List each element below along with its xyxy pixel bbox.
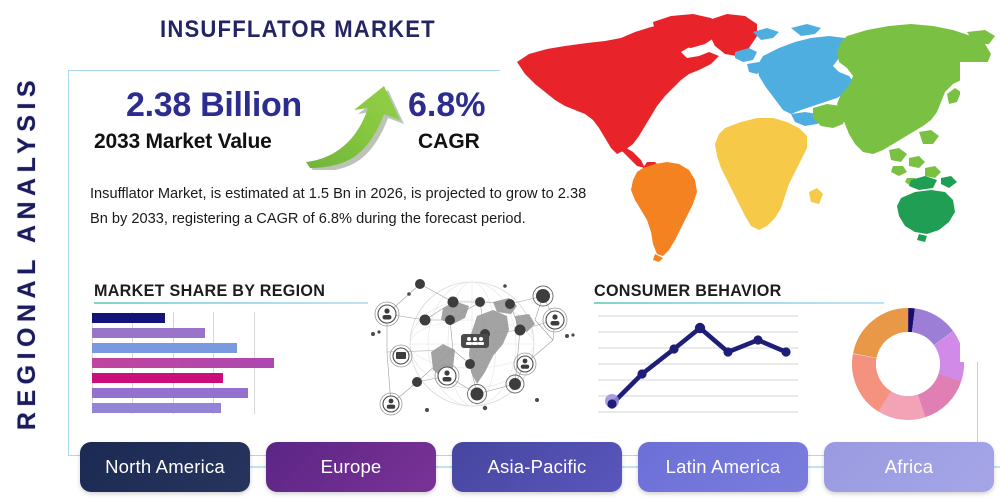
- region-button-label: Europe: [321, 456, 382, 478]
- page-title: INSUFFLATOR MARKET: [160, 16, 436, 44]
- region-button-europe[interactable]: Europe: [266, 442, 436, 492]
- region-button-latin-america[interactable]: Latin America: [638, 442, 808, 492]
- bar-row: [92, 313, 165, 323]
- market-description: Insufflator Market, is estimated at 1.5 …: [90, 182, 590, 232]
- growth-arrow-icon: [300, 84, 410, 170]
- segment-donut-chart: [852, 308, 964, 420]
- consumer-behavior-line-chart: [598, 308, 798, 418]
- infographic-root: REGIONAL ANALYSIS INSUFFLATOR MARKET: [0, 0, 1000, 500]
- region-button-africa[interactable]: Africa: [824, 442, 994, 492]
- bar-row: [92, 358, 274, 368]
- market-value-figure: 2.38 Billion: [126, 86, 302, 125]
- bar-row: [92, 343, 237, 353]
- cagr-caption: CAGR: [418, 130, 480, 154]
- cagr-figure: 6.8%: [408, 86, 486, 125]
- section-heading-consumer-behavior: CONSUMER BEHAVIOR: [594, 281, 782, 301]
- frame-mask-right: [960, 62, 1000, 362]
- bar-row: [92, 328, 205, 338]
- region-button-label: North America: [105, 456, 225, 478]
- region-button-asia-pacific[interactable]: Asia-Pacific: [452, 442, 622, 492]
- region-button-north-america[interactable]: North America: [80, 442, 250, 492]
- region-button-label: Asia-Pacific: [487, 456, 586, 478]
- hero-stats: 2.38 Billion 2033 Market Value 6.8% CAGR: [90, 88, 510, 170]
- bar-row: [92, 373, 223, 383]
- section-rule-consumer-behavior: [594, 302, 884, 304]
- market-share-bar-chart: [92, 312, 290, 414]
- region-button-row: North America Europe Asia-Pacific Latin …: [80, 442, 985, 492]
- bar-row: [92, 388, 248, 398]
- market-value-caption: 2033 Market Value: [94, 130, 272, 154]
- global-network-globe-icon: [365, 272, 580, 422]
- region-button-label: Latin America: [666, 456, 781, 478]
- region-button-label: Africa: [885, 456, 934, 478]
- side-label-text: REGIONAL ANALYSIS: [14, 74, 43, 429]
- section-rule-market-share: [94, 302, 368, 304]
- regional-analysis-side-label: REGIONAL ANALYSIS: [0, 62, 58, 442]
- section-heading-market-share: MARKET SHARE BY REGION: [94, 281, 325, 301]
- bar-row: [92, 403, 221, 413]
